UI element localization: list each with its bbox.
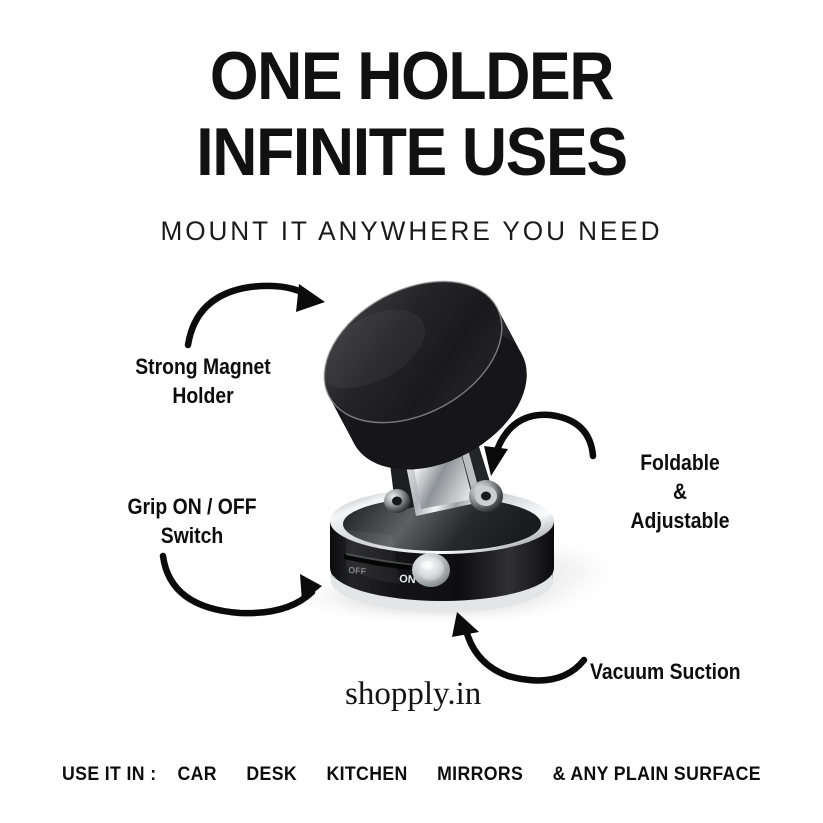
hinge-arm-right (452, 418, 495, 504)
subheadline: MOUNT IT ANYWHERE YOU NEED (12, 216, 810, 247)
switch-button-inner (418, 558, 444, 581)
footer-item-mirrors: MIRRORS (437, 764, 523, 785)
switch-groove-highlight (346, 553, 438, 567)
callout-vacuum-suction: Vacuum Suction (590, 657, 741, 686)
hinge-neck (390, 404, 470, 440)
switch-button-outer (412, 553, 450, 587)
footer-use-cases: USE IT IN : CAR DESK KITCHEN MIRRORS & A… (29, 764, 794, 786)
base-cylinder-body (330, 521, 554, 601)
curved-arrow-foldable (484, 415, 593, 476)
infographic-canvas: ONE HOLDER INFINITE USES MOUNT IT ANYWHE… (0, 0, 823, 823)
hinge-arm-right-edge (452, 418, 481, 499)
switch-button-highlight (421, 561, 433, 569)
hinge-slot-shine (418, 446, 456, 458)
hinge-bracket-face (409, 426, 478, 509)
hinge-pivot-right-core (481, 492, 491, 501)
footer-item-desk: DESK (246, 764, 297, 785)
headline-line-2: INFINITE USES (33, 118, 790, 186)
callout-grip-on-off-switch: Grip ON / OFF Switch (104, 492, 280, 550)
magnet-head-rim-highlight (300, 253, 526, 452)
curved-arrow-grip-switch (163, 556, 322, 613)
base-top-inner-sheen (343, 497, 541, 551)
base-top-inner (343, 497, 541, 551)
switch-groove (344, 554, 440, 572)
product-shadow (280, 566, 600, 626)
footer-item-any-plain-surface: & ANY PLAIN SURFACE (553, 764, 761, 785)
callout-strong-magnet-line-1: Strong Magnet (119, 352, 286, 381)
base-top-ring (330, 488, 554, 554)
callout-foldable-line-3: Adjustable (610, 506, 751, 535)
callout-strong-magnet-line-2: Holder (119, 381, 286, 410)
hinge-slot (417, 446, 457, 464)
magnet-head-sheen (306, 294, 438, 405)
callout-strong-magnet-holder: Strong Magnet Holder (119, 352, 286, 410)
magnet-head-bottom (325, 299, 551, 498)
suction-rim-bottom (331, 548, 553, 612)
magnet-head-top-face (300, 253, 526, 452)
hinge-leg-left (386, 424, 421, 512)
callout-grip-switch-line-2: Switch (104, 521, 280, 550)
brand-wordmark: shopply.in (345, 676, 481, 713)
vacuum-suction-rim (331, 566, 553, 612)
switch-on-label: ON (399, 573, 416, 586)
headline-line-1: ONE HOLDER (33, 42, 790, 110)
hinge-bracket-plate (399, 414, 490, 516)
magnet-head-side-wall (329, 307, 551, 498)
hinge-pivot-left-core (392, 497, 402, 506)
footer-lead: USE IT IN : (62, 764, 156, 785)
switch-off-label: OFF (348, 565, 367, 576)
hinge-pivot-right-ring (475, 486, 497, 506)
hinge-pivot-right (469, 480, 503, 512)
footer-item-car: CAR (178, 764, 217, 785)
footer-item-kitchen: KITCHEN (326, 764, 407, 785)
callout-vacuum-line-1: Vacuum Suction (590, 657, 741, 686)
product-shadow-right (410, 534, 630, 610)
curved-arrow-vacuum-suction (452, 612, 584, 680)
callout-grip-switch-line-1: Grip ON / OFF (104, 492, 280, 521)
callout-foldable-line-2: & (610, 477, 751, 506)
curved-arrow-strong-magnet (188, 284, 325, 345)
hinge-pivot-left (384, 489, 410, 513)
base-gloss (346, 530, 400, 584)
callout-foldable-adjustable: Foldable & Adjustable (610, 448, 751, 535)
callout-foldable-line-1: Foldable (610, 448, 751, 477)
